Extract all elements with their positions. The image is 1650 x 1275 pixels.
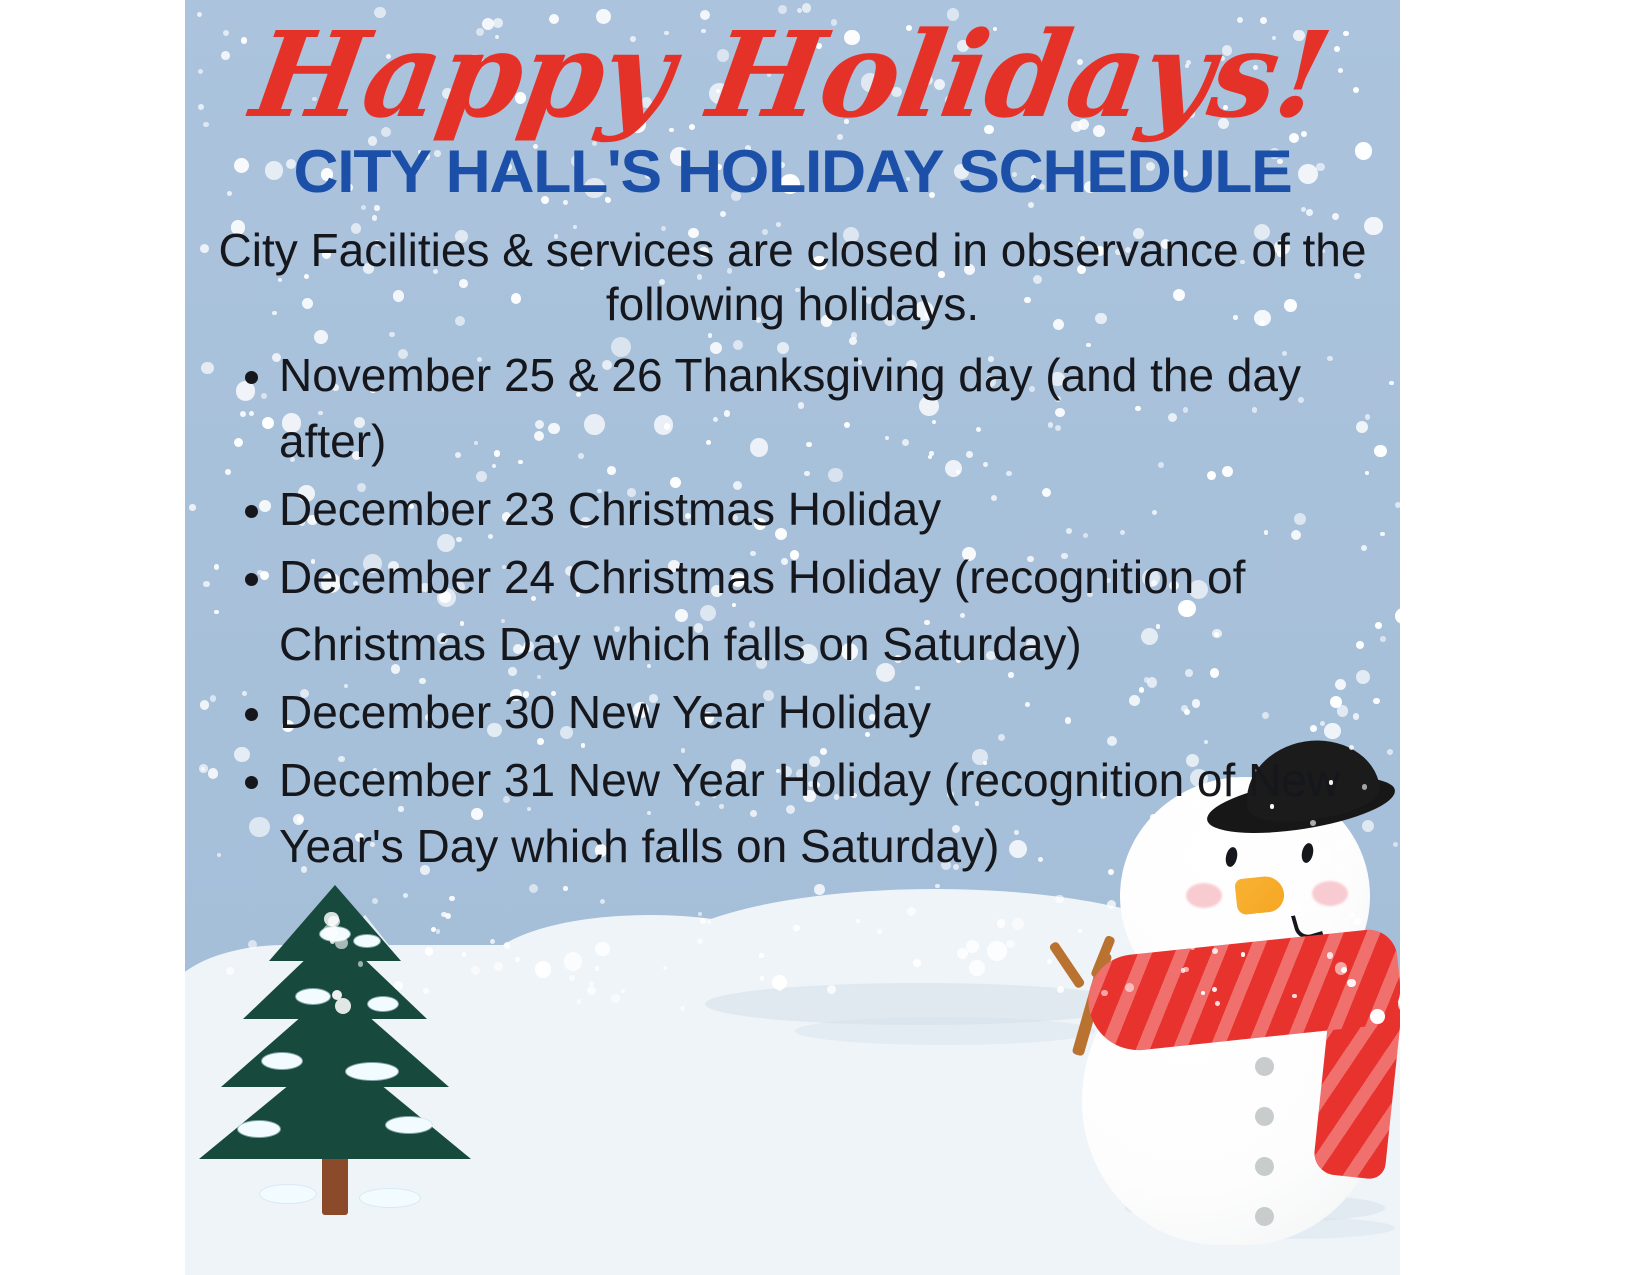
- snowman-cheek: [1312, 881, 1348, 906]
- holiday-list: November 25 & 26 Thanksgiving day (and t…: [185, 342, 1400, 880]
- snowman-button: [1255, 1157, 1274, 1176]
- list-item: December 31 New Year Holiday (recognitio…: [237, 747, 1390, 879]
- snowman-button: [1255, 1057, 1274, 1076]
- poster-canvas: Happy Holidays! CITY HALL'S HOLIDAY SCHE…: [0, 0, 1650, 1275]
- poster-text-block: Happy Holidays! CITY HALL'S HOLIDAY SCHE…: [185, 0, 1400, 882]
- pine-tree-icon: [200, 885, 470, 1215]
- script-title: Happy Holidays!: [185, 0, 1400, 134]
- list-item: November 25 & 26 Thanksgiving day (and t…: [237, 342, 1390, 474]
- holiday-schedule-poster: Happy Holidays! CITY HALL'S HOLIDAY SCHE…: [185, 0, 1400, 1275]
- intro-paragraph: City Facilities & services are closed in…: [207, 224, 1378, 332]
- list-item: December 23 Christmas Holiday: [237, 476, 1390, 542]
- list-item: December 30 New Year Holiday: [237, 679, 1390, 745]
- snowman-cheek: [1186, 883, 1222, 908]
- snowman-button: [1255, 1207, 1274, 1226]
- page-title: CITY HALL'S HOLIDAY SCHEDULE: [185, 142, 1400, 202]
- snowman-button: [1255, 1107, 1274, 1126]
- list-item: December 24 Christmas Holiday (recogniti…: [237, 544, 1390, 676]
